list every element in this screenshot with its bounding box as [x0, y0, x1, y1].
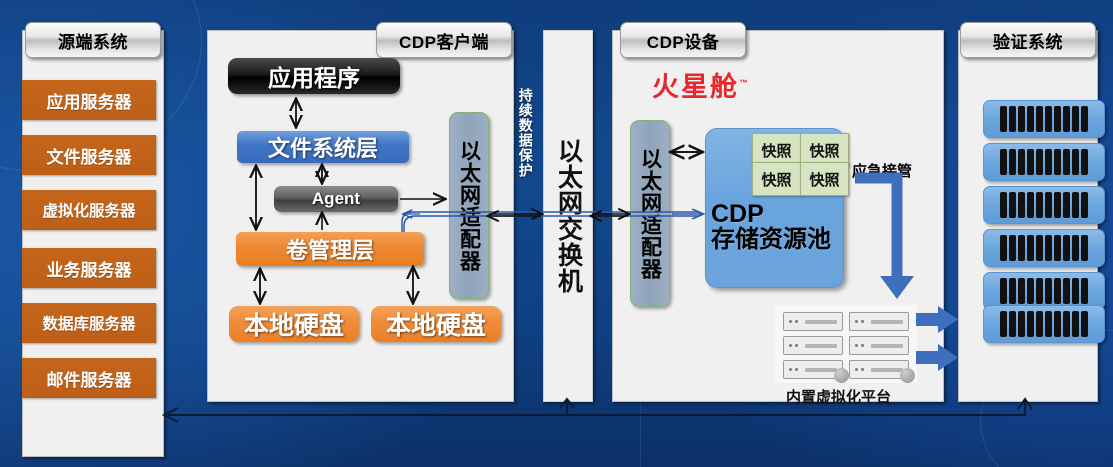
local-disk-block-2[interactable]: 本地硬盘 [371, 306, 501, 342]
snapshot-label: 快照 [761, 169, 791, 190]
cdp-device-tab[interactable]: CDP设备 [620, 22, 746, 58]
server-bars-icon [1001, 193, 1087, 217]
platform-column-right [849, 312, 909, 379]
bottom-return-line [168, 400, 1025, 415]
source-item-business-server[interactable]: 业务服务器 [22, 248, 156, 288]
filesystem-layer-label: 文件系统层 [268, 131, 378, 163]
verify-server-6[interactable] [983, 305, 1105, 343]
source-item-label: 应用服务器 [47, 88, 132, 113]
server-bars-icon [1001, 312, 1087, 336]
application-label: 应用程序 [268, 59, 360, 93]
server-bars-icon [1001, 107, 1087, 131]
pool-title-line2: 存储资源池 [711, 227, 831, 252]
local-disk-label: 本地硬盘 [386, 306, 486, 342]
source-item-label: 文件服务器 [47, 143, 132, 168]
source-item-mail-server[interactable]: 邮件服务器 [22, 358, 156, 398]
source-item-virtualization-server[interactable]: 虚拟化服务器 [22, 190, 156, 230]
platform-server-row [783, 336, 843, 355]
device-ethernet-adapter-label: 以太网适配器 [640, 148, 661, 280]
ethernet-switch[interactable]: 以太网交换机 [543, 30, 593, 402]
platform-server-row [783, 360, 843, 379]
local-disk-block-1[interactable]: 本地硬盘 [229, 306, 359, 342]
verify-system-tab[interactable]: 验证系统 [960, 22, 1096, 58]
snapshot-label: 快照 [809, 169, 839, 190]
bottom-return-arrowhead-left [164, 408, 178, 422]
source-item-label: 数据库服务器 [42, 312, 135, 334]
platform-caption-text: 内置虚拟化平台 [786, 389, 891, 406]
platform-caption: 内置虚拟化平台 [786, 386, 891, 407]
diagram-canvas: 源端系统 应用服务器 文件服务器 虚拟化服务器 业务服务器 数据库服务器 邮件服… [0, 0, 1113, 467]
pool-title-line1: CDP [711, 201, 831, 227]
agent-label: Agent [312, 189, 360, 209]
ethernet-switch-label: 以太网交换机 [556, 138, 581, 294]
verify-server-1[interactable] [983, 100, 1105, 138]
cdp-client-tab[interactable]: CDP客户端 [376, 22, 512, 58]
source-item-file-server[interactable]: 文件服务器 [22, 135, 156, 175]
emergency-takeover-text: 应急接管 [852, 163, 912, 180]
cdp-storage-pool-title: CDP 存储资源池 [711, 201, 831, 252]
source-item-label: 业务服务器 [47, 256, 132, 281]
server-bars-icon [1001, 236, 1087, 260]
source-system-tab[interactable]: 源端系统 [25, 22, 161, 58]
emergency-takeover-label: 应急接管 [852, 160, 912, 181]
continuous-protection-text: 持续数据保护 [518, 88, 534, 178]
trademark-icon: ™ [739, 78, 750, 88]
source-item-label: 虚拟化服务器 [42, 199, 135, 221]
verify-system-tab-label: 验证系统 [993, 28, 1063, 53]
brand-text: 火星舱 [652, 72, 739, 102]
snapshot-label: 快照 [761, 140, 791, 161]
source-item-database-server[interactable]: 数据库服务器 [22, 303, 156, 343]
agent-block[interactable]: Agent [274, 186, 398, 212]
filesystem-layer-block[interactable]: 文件系统层 [237, 131, 409, 163]
local-disk-label: 本地硬盘 [244, 306, 344, 342]
verify-server-4[interactable] [983, 229, 1105, 267]
client-ethernet-adapter-label: 以太网适配器 [459, 140, 480, 272]
platform-server-row [849, 312, 909, 331]
platform-node-dot [900, 368, 915, 383]
client-ethernet-adapter[interactable]: 以太网适配器 [449, 112, 489, 299]
brand-logo-huoxingcang: 火星舱™ [652, 65, 750, 104]
snapshot-box-4[interactable]: 快照 [800, 162, 849, 196]
source-system-tab-label: 源端系统 [58, 28, 128, 53]
volume-manager-label: 卷管理层 [286, 233, 374, 265]
server-bars-icon [1001, 279, 1087, 303]
source-item-label: 邮件服务器 [47, 366, 132, 391]
source-item-app-server[interactable]: 应用服务器 [22, 80, 156, 120]
verify-server-2[interactable] [983, 143, 1105, 181]
platform-node-dot [834, 368, 849, 383]
builtin-virtualization-platform[interactable] [775, 305, 917, 383]
application-block[interactable]: 应用程序 [228, 58, 400, 94]
cdp-device-tab-label: CDP设备 [647, 28, 719, 53]
snapshot-label: 快照 [809, 140, 839, 161]
snapshot-box-3[interactable]: 快照 [752, 162, 801, 196]
cdp-client-tab-label: CDP客户端 [399, 28, 489, 53]
platform-server-row [849, 360, 909, 379]
platform-column-left [783, 312, 843, 379]
server-bars-icon [1001, 150, 1087, 174]
volume-manager-block[interactable]: 卷管理层 [236, 232, 424, 266]
platform-server-row [849, 336, 909, 355]
continuous-protection-label: 持续数据保护 [518, 88, 533, 178]
device-ethernet-adapter[interactable]: 以太网适配器 [630, 120, 670, 307]
platform-server-row [783, 312, 843, 331]
verify-server-3[interactable] [983, 186, 1105, 224]
